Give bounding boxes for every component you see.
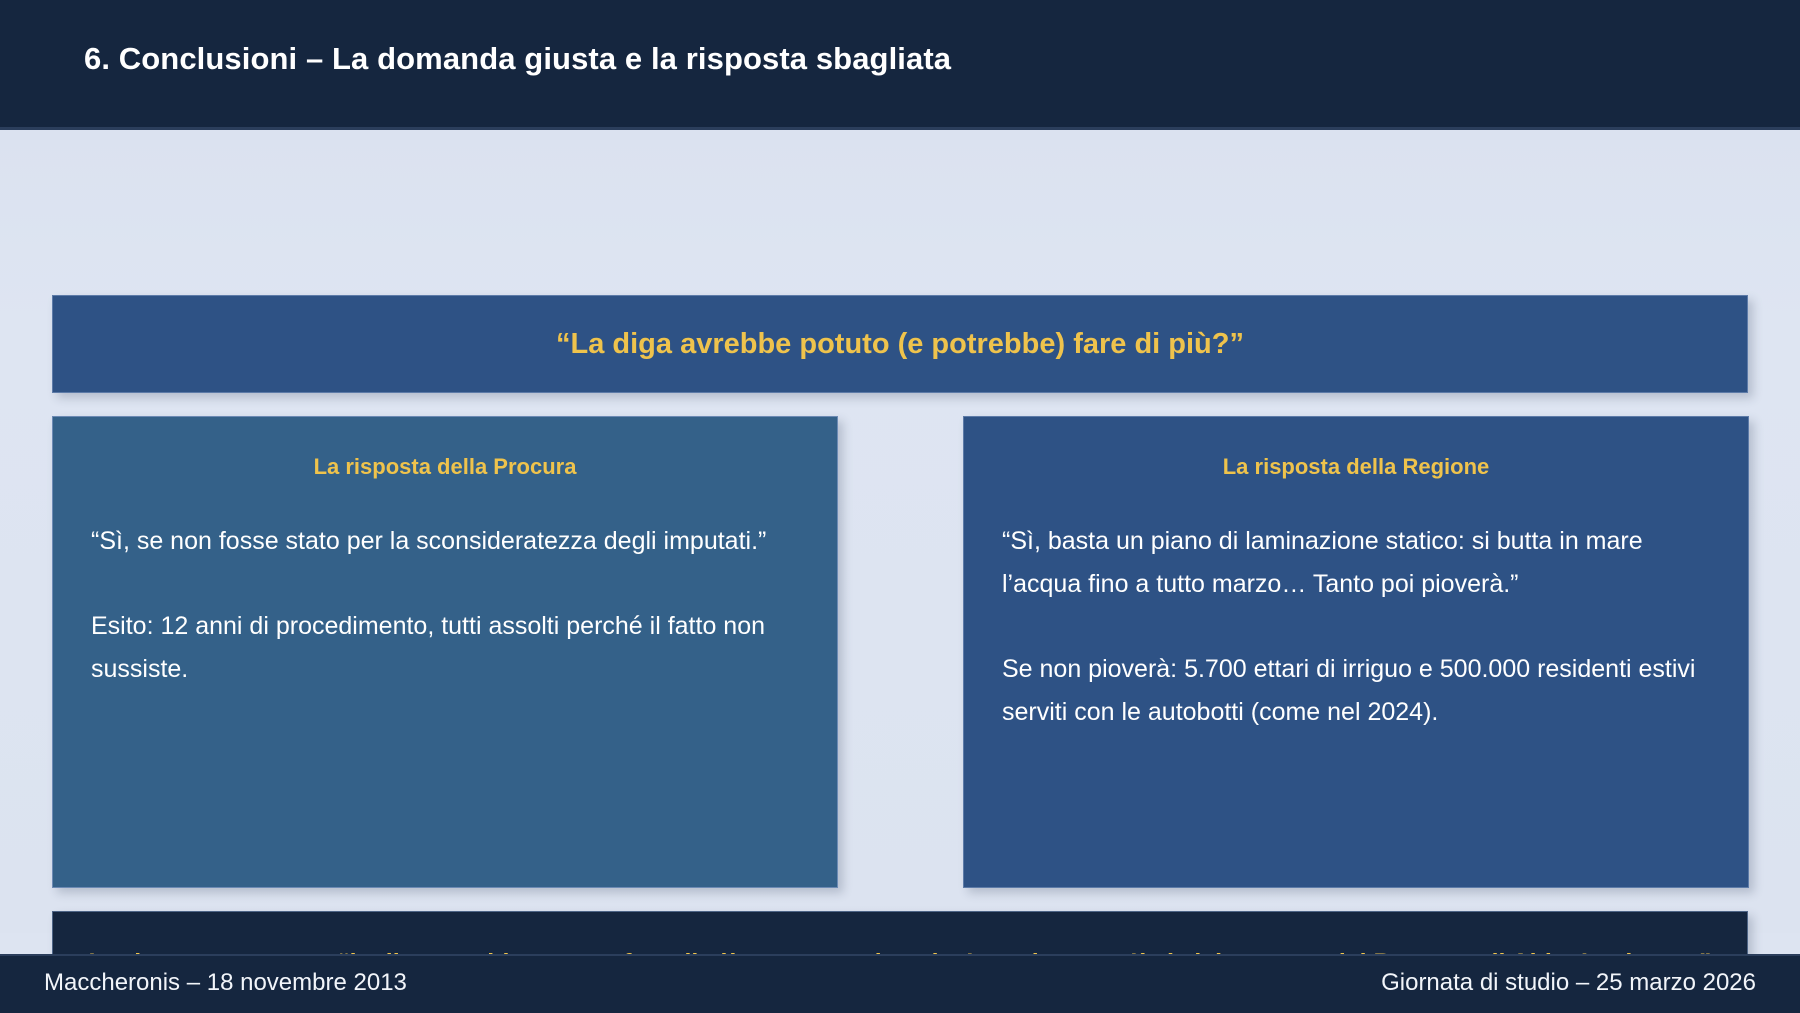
answer-card-procura: La risposta della Procura “Sì, se non fo… <box>52 416 838 888</box>
slide-header-bar: 6. Conclusioni – La domanda giusta e la … <box>0 0 1800 130</box>
answer-card-regione: La risposta della Regione “Sì, basta un … <box>963 416 1749 888</box>
answer-card-regione-heading: La risposta della Regione <box>1002 453 1710 482</box>
answer-card-procura-heading: La risposta della Procura <box>91 453 799 482</box>
question-banner-text: “La diga avrebbe potuto (e potrebbe) far… <box>536 328 1264 361</box>
answer-card-regione-paragraph-1: “Sì, basta un piano di laminazione stati… <box>1002 520 1710 606</box>
presentation-slide: 6. Conclusioni – La domanda giusta e la … <box>0 0 1800 1013</box>
answer-card-regione-paragraph-2: Se non pioverà: 5.700 ettari di irriguo … <box>1002 648 1710 734</box>
question-banner: “La diga avrebbe potuto (e potrebbe) far… <box>52 295 1748 393</box>
answer-card-procura-paragraph-1: “Sì, se non fosse stato per la sconsider… <box>91 520 799 563</box>
footer-left-text: Maccheronis – 18 novembre 2013 <box>44 969 407 997</box>
footer-right-text: Giornata di studio – 25 marzo 2026 <box>1381 969 1756 997</box>
answer-card-procura-paragraph-2: Esito: 12 anni di procedimento, tutti as… <box>91 605 799 691</box>
slide-body: “La diga avrebbe potuto (e potrebbe) far… <box>0 130 1800 933</box>
page-title: 6. Conclusioni – La domanda giusta e la … <box>84 41 951 77</box>
slide-footer-bar: Maccheronis – 18 novembre 2013 Giornata … <box>0 954 1800 1013</box>
